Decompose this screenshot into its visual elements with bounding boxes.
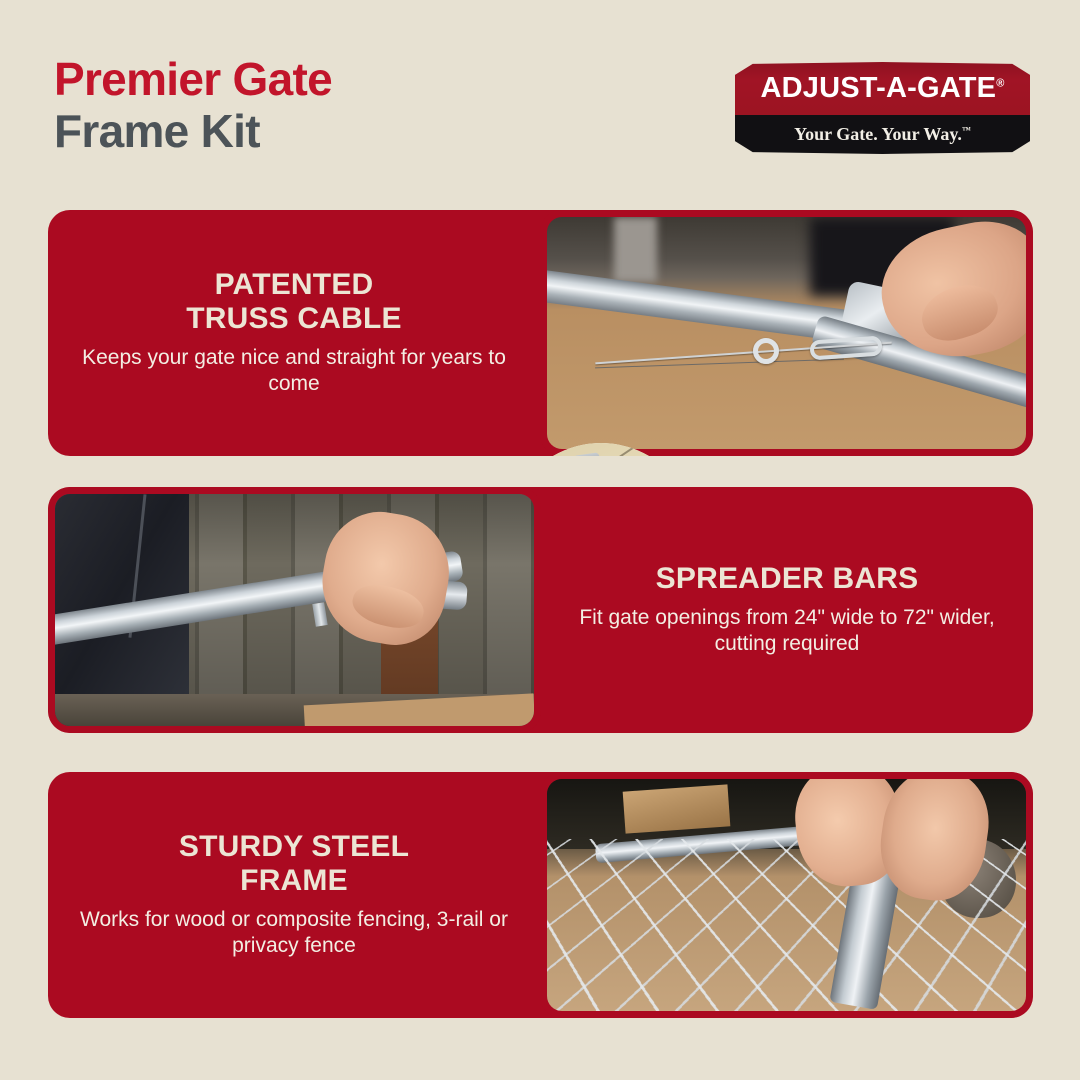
feature-card-patented-truss-cable: PATENTED TRUSS CABLE Keeps your gate nic… bbox=[48, 210, 1033, 456]
feature-card-text-block: SPREADER BARS Fit gate openings from 24"… bbox=[541, 487, 1033, 733]
trademark-icon: ™ bbox=[962, 125, 971, 135]
brand-logo: ADJUST-A-GATE® Your Gate. Your Way.™ bbox=[735, 62, 1030, 154]
logo-top-band: ADJUST-A-GATE® bbox=[735, 62, 1030, 115]
page-title-line-1: Premier Gate bbox=[54, 54, 332, 106]
photo-steel-frame-assembly bbox=[547, 779, 1026, 1011]
feature-card-photo bbox=[540, 210, 1033, 456]
feature-card-photo bbox=[48, 487, 541, 733]
page-title-line-2: Frame Kit bbox=[54, 106, 332, 158]
lumber-board bbox=[622, 785, 730, 834]
eye-bolt-ring-icon bbox=[753, 338, 779, 364]
feature-card-subtext: Keeps your gate nice and straight for ye… bbox=[74, 345, 514, 398]
feature-heading-line: PATENTED bbox=[215, 268, 374, 301]
logo-brand-name: ADJUST-A-GATE® bbox=[761, 72, 1005, 105]
feature-card-spreader-bars: SPREADER BARS Fit gate openings from 24"… bbox=[48, 487, 1033, 733]
feature-card-subtext: Works for wood or composite fencing, 3-r… bbox=[74, 907, 514, 960]
feature-card-subtext: Fit gate openings from 24" wide to 72" w… bbox=[567, 605, 1007, 658]
logo-bottom-band: Your Gate. Your Way.™ bbox=[735, 115, 1030, 154]
header: Premier Gate Frame Kit ADJUST-A-GATE® Yo… bbox=[0, 0, 1080, 196]
logo-tagline-text: Your Gate. Your Way. bbox=[794, 124, 962, 144]
registered-trademark-icon: ® bbox=[996, 78, 1004, 90]
feature-card-heading: STURDY STEEL FRAME bbox=[179, 830, 409, 897]
photo-spreader-bar-measure bbox=[55, 494, 534, 726]
feature-card-heading: SPREADER BARS bbox=[656, 562, 919, 596]
feature-card-heading: PATENTED TRUSS CABLE bbox=[186, 268, 402, 335]
feature-card-sturdy-steel-frame: STURDY STEEL FRAME Works for wood or com… bbox=[48, 772, 1033, 1018]
photo-truss-cable-install bbox=[547, 217, 1026, 449]
feature-heading-line: FRAME bbox=[240, 864, 348, 897]
feature-card-inset-photo bbox=[506, 443, 696, 456]
page-title: Premier Gate Frame Kit bbox=[54, 54, 332, 158]
background-post bbox=[614, 217, 657, 282]
feature-card-text-block: STURDY STEEL FRAME Works for wood or com… bbox=[48, 772, 540, 1018]
logo-shield-shape: ADJUST-A-GATE® Your Gate. Your Way.™ bbox=[735, 62, 1030, 154]
feature-heading-line: TRUSS CABLE bbox=[186, 302, 402, 335]
feature-card-photo bbox=[540, 772, 1033, 1018]
feature-card-text-block: PATENTED TRUSS CABLE Keeps your gate nic… bbox=[48, 210, 540, 456]
logo-tagline: Your Gate. Your Way.™ bbox=[794, 124, 971, 145]
logo-brand-text: ADJUST-A-GATE bbox=[761, 72, 997, 104]
feature-heading-line: STURDY STEEL bbox=[179, 830, 409, 863]
inset-wood-background bbox=[506, 443, 696, 456]
